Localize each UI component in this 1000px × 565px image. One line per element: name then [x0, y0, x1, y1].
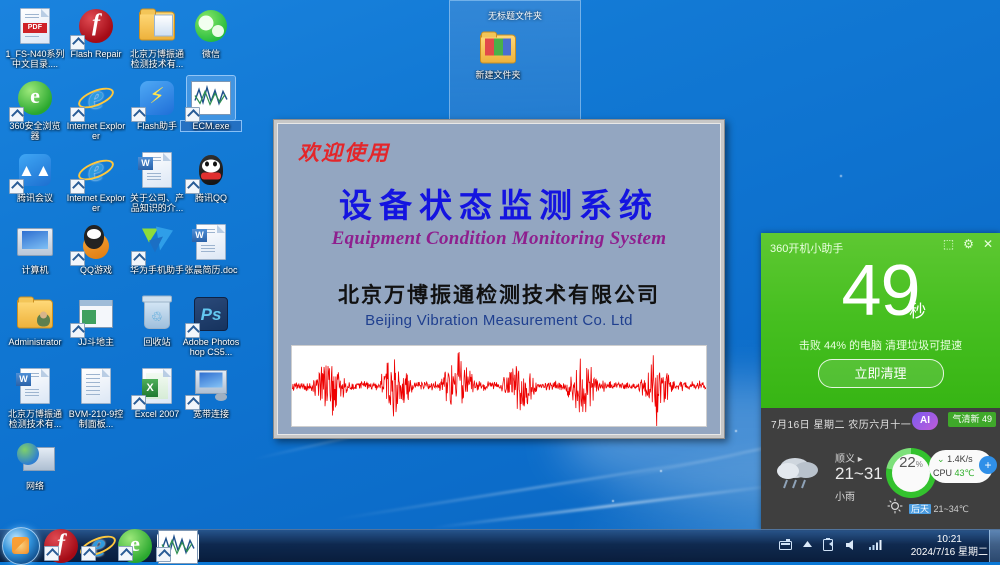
- boot-time-value: 49: [761, 255, 1000, 327]
- action-center-icon[interactable]: [823, 538, 835, 551]
- volume-icon[interactable]: [846, 539, 858, 551]
- show-hidden-icon[interactable]: [803, 541, 812, 548]
- system-tray: [779, 538, 882, 551]
- desktop-icon-label: 微信: [181, 49, 241, 59]
- ie-icon: e: [72, 76, 120, 120]
- boot-time-unit: 秒: [909, 297, 926, 322]
- desktop-icon-tencent-meeting[interactable]: ▲▲腾讯会议: [5, 148, 65, 203]
- waveform-svg: [292, 346, 706, 426]
- desktop-icon-grid: PDF1_FS-N40系列中文目录....fFlash Repair北京万博振通…: [0, 0, 250, 520]
- meeting-icon: ▲▲: [11, 148, 59, 192]
- splash-welcome-text: 欢迎使用: [298, 137, 390, 167]
- desktop-icon-resume-doc[interactable]: W张晨简历.doc: [181, 220, 241, 275]
- desktop-icon-bvm-folder[interactable]: 北京万博振通检测技术有...: [127, 4, 187, 69]
- folder-pane-title: 无标题文件夹: [450, 9, 580, 22]
- desktop-icon-label: Adobe Photoshop CS5...: [181, 337, 241, 357]
- qqgame-icon: [72, 220, 120, 264]
- desktop-icon-label: Flash Repair: [66, 49, 126, 59]
- word-icon: W: [133, 148, 181, 192]
- network-icon: [11, 436, 59, 480]
- desktop-icon-label: Internet Explorer: [66, 121, 126, 141]
- ecm-splash-window[interactable]: 欢迎使用 设备状态监测系统 Equipment Condition Monito…: [273, 119, 725, 439]
- taskbar-360[interactable]: e: [120, 533, 150, 559]
- ps-icon: Ps: [187, 292, 235, 336]
- system-stats-pill[interactable]: ⌄ 1.4K/s CPU 43℃ +: [929, 450, 993, 483]
- desktop-icon-excel-2007[interactable]: XExcel 2007: [127, 364, 187, 419]
- show-desktop-button[interactable]: [989, 530, 1000, 562]
- folder-selection-pane[interactable]: 无标题文件夹 新建文件夹: [449, 0, 581, 121]
- widget-top-panel: 360开机小助手 ⬚ ⚙ ✕ 49 秒 击败 44% 的电脑 清理垃圾可提速 立…: [761, 233, 1000, 408]
- desktop-icon-label: Administrator: [5, 337, 65, 347]
- desktop-icon-wechat[interactable]: 微信: [181, 4, 241, 59]
- qq-icon: [187, 148, 235, 192]
- notification-icon[interactable]: [779, 539, 792, 550]
- desktop-icon-label: 网络: [5, 481, 65, 491]
- desktop-icon-internet-explorer-2[interactable]: eInternet Explorer: [66, 148, 126, 213]
- word-icon: W: [187, 220, 235, 264]
- shirt-icon[interactable]: ⬚: [943, 238, 954, 250]
- folder-icon: [133, 4, 181, 48]
- rain-cloud-icon: [773, 450, 829, 492]
- splash-title-en: Equipment Condition Monitoring System: [278, 228, 720, 250]
- word-icon: W: [11, 364, 59, 408]
- close-icon[interactable]: ✕: [983, 238, 993, 250]
- browser360-icon: e: [11, 76, 59, 120]
- desktop-icon-label: QQ游戏: [66, 265, 126, 275]
- clock-time: 10:21: [911, 533, 988, 546]
- desktop-icon-administrator[interactable]: Administrator: [5, 292, 65, 347]
- desktop-icon-bvm-210-9-doc[interactable]: BVM-210-9控制面板...: [66, 364, 126, 429]
- desktop-icon-label: 1_FS-N40系列中文目录....: [5, 49, 65, 69]
- desktop-icon-label: 计算机: [5, 265, 65, 275]
- flash-icon: f: [46, 533, 76, 559]
- pdf-icon: PDF: [11, 4, 59, 48]
- network-speed: ⌄ 1.4K/s: [937, 454, 973, 465]
- air-quality-badge[interactable]: 气清新 49: [948, 412, 996, 427]
- ie-icon: e: [83, 533, 113, 559]
- desktop-icon-bvm-doc[interactable]: W北京万博振通检测技术有...: [5, 364, 65, 429]
- widget-title: 360开机小助手: [770, 240, 843, 256]
- desktop-icon-internet-explorer[interactable]: eInternet Explorer: [66, 76, 126, 141]
- recycle-icon: ♲: [133, 292, 181, 336]
- desktop-icon-label: Excel 2007: [127, 409, 187, 419]
- computer-icon: [11, 220, 59, 264]
- desktop-icon-label: 张晨简历.doc: [181, 265, 241, 275]
- desktop-icon-broadband[interactable]: 宽带连接: [181, 364, 241, 419]
- desktop-icon-recycle-bin[interactable]: ♲回收站: [127, 292, 187, 347]
- desktop-icon-label: Internet Explorer: [66, 193, 126, 213]
- cpu-usage-ring[interactable]: 22 %: [886, 448, 936, 498]
- start-button[interactable]: [2, 527, 40, 565]
- clock-date: 2024/7/16 星期二: [911, 546, 988, 559]
- desktop-icon-huawei-assistant[interactable]: 华为手机助手: [127, 220, 187, 275]
- splash-company-cn: 北京万博振通检测技术有限公司: [278, 279, 720, 309]
- desktop-icon-flash-helper[interactable]: ⚡Flash助手: [127, 76, 187, 131]
- cpu-temp: CPU 43℃: [933, 468, 975, 479]
- desktop-icon-label: Flash助手: [127, 121, 187, 131]
- widget-bottom-panel: 7月16日 星期二 农历六月十一 AI 气清新 49 顺义 ▸ 21~31 小雨…: [761, 408, 1000, 531]
- ie-icon: e: [72, 148, 120, 192]
- ecm-icon: [158, 534, 198, 560]
- desktop-icon-label: 腾讯QQ: [181, 193, 241, 203]
- userfolder-icon: [11, 292, 59, 336]
- splash-title-cn: 设备状态监测系统: [278, 179, 720, 227]
- excel-icon: X: [133, 364, 181, 408]
- cpu-usage-value: 22: [899, 454, 916, 471]
- huawei-icon: [133, 220, 181, 264]
- sun-icon: [887, 498, 903, 514]
- browser360-icon: e: [120, 533, 150, 559]
- desktop-icon-label: 360安全浏览器: [5, 121, 65, 141]
- 360-boot-assistant-widget[interactable]: 360开机小助手 ⬚ ⚙ ✕ 49 秒 击败 44% 的电脑 清理垃圾可提速 立…: [761, 233, 1000, 531]
- weather-temp-range: 21~31: [835, 464, 883, 484]
- desktop-icon-label: 华为手机助手: [127, 265, 187, 275]
- widget-date: 7月16日 星期二 农历六月十一: [771, 416, 911, 431]
- folder-pane-item-label: 新建文件夹: [468, 70, 528, 80]
- desktop-icon-tencent-qq[interactable]: 腾讯QQ: [181, 148, 241, 203]
- desktop-icon-label: BVM-210-9控制面板...: [66, 409, 126, 429]
- desktop-icon-company-intro-doc[interactable]: W关于公司、产品知识的介...: [127, 148, 187, 213]
- widget-header-buttons: ⬚ ⚙ ✕: [943, 238, 993, 250]
- folder-icon: [474, 25, 522, 69]
- vibration-waveform-chart: [291, 345, 707, 427]
- weather-forecast: 后天 21~34℃: [909, 502, 969, 515]
- desktop-icon-label: ECM.exe: [181, 121, 241, 131]
- desktop-icon-photoshop[interactable]: PsAdobe Photoshop CS5...: [181, 292, 241, 357]
- expand-icon[interactable]: +: [979, 456, 997, 474]
- cpu-usage-unit: %: [916, 460, 923, 469]
- desktop-icon-computer[interactable]: 计算机: [5, 220, 65, 275]
- desktop-icon-qq-game[interactable]: QQ游戏: [66, 220, 126, 275]
- flashhelper-icon: ⚡: [133, 76, 181, 120]
- weather-description: 小雨: [835, 488, 855, 503]
- desktop-icon-network[interactable]: 网络: [5, 436, 65, 491]
- desktop-icon-label: 北京万博振通检测技术有...: [127, 49, 187, 69]
- desktop-icon-ecm-exe[interactable]: ECM.exe: [181, 76, 241, 131]
- desktop-icon-label: 关于公司、产品知识的介...: [127, 193, 187, 213]
- ecm-icon: [187, 76, 235, 120]
- desktop-icon-label: 宽带连接: [181, 409, 241, 419]
- desktop-icon-fs-n40-pdf[interactable]: PDF1_FS-N40系列中文目录....: [5, 4, 65, 69]
- desktop-icon-label: JJ斗地主: [66, 337, 126, 347]
- desktop-icon-360-browser[interactable]: e360安全浏览器: [5, 76, 65, 141]
- taskbar-clock[interactable]: 10:21 2024/7/16 星期二: [911, 533, 988, 559]
- desktop-icon-label: 腾讯会议: [5, 193, 65, 203]
- desktop-icon-label: 回收站: [127, 337, 187, 347]
- wechat-icon: [187, 4, 235, 48]
- taskbar-flash[interactable]: f: [46, 533, 76, 559]
- desktop-icon-flash-repair[interactable]: fFlash Repair: [66, 4, 126, 59]
- taskbar-ecm[interactable]: [157, 533, 199, 561]
- gear-icon[interactable]: ⚙: [963, 238, 974, 250]
- weather-city[interactable]: 顺义 ▸: [835, 450, 863, 465]
- widget-subtitle: 击败 44% 的电脑 清理垃圾可提速: [761, 337, 1000, 353]
- doc2-icon: [72, 364, 120, 408]
- broadband-icon: [187, 364, 235, 408]
- clean-now-button[interactable]: 立即清理: [818, 359, 944, 388]
- desktop-icon-label: 北京万博振通检测技术有...: [5, 409, 65, 429]
- folder-pane-item[interactable]: 新建文件夹: [468, 25, 528, 80]
- window-icon: [72, 292, 120, 336]
- ai-badge[interactable]: AI: [912, 412, 938, 430]
- network-icon[interactable]: [869, 539, 882, 550]
- taskbar: fee 10:21 2024/7/16 星期二: [0, 529, 1000, 562]
- taskbar-ie[interactable]: e: [83, 533, 113, 559]
- flash-icon: f: [72, 4, 120, 48]
- desktop-icon-jj-doudizhu[interactable]: JJ斗地主: [66, 292, 126, 347]
- splash-company-en: Beijing Vibration Measurement Co. Ltd: [278, 312, 720, 329]
- windows-logo-icon: [12, 537, 29, 554]
